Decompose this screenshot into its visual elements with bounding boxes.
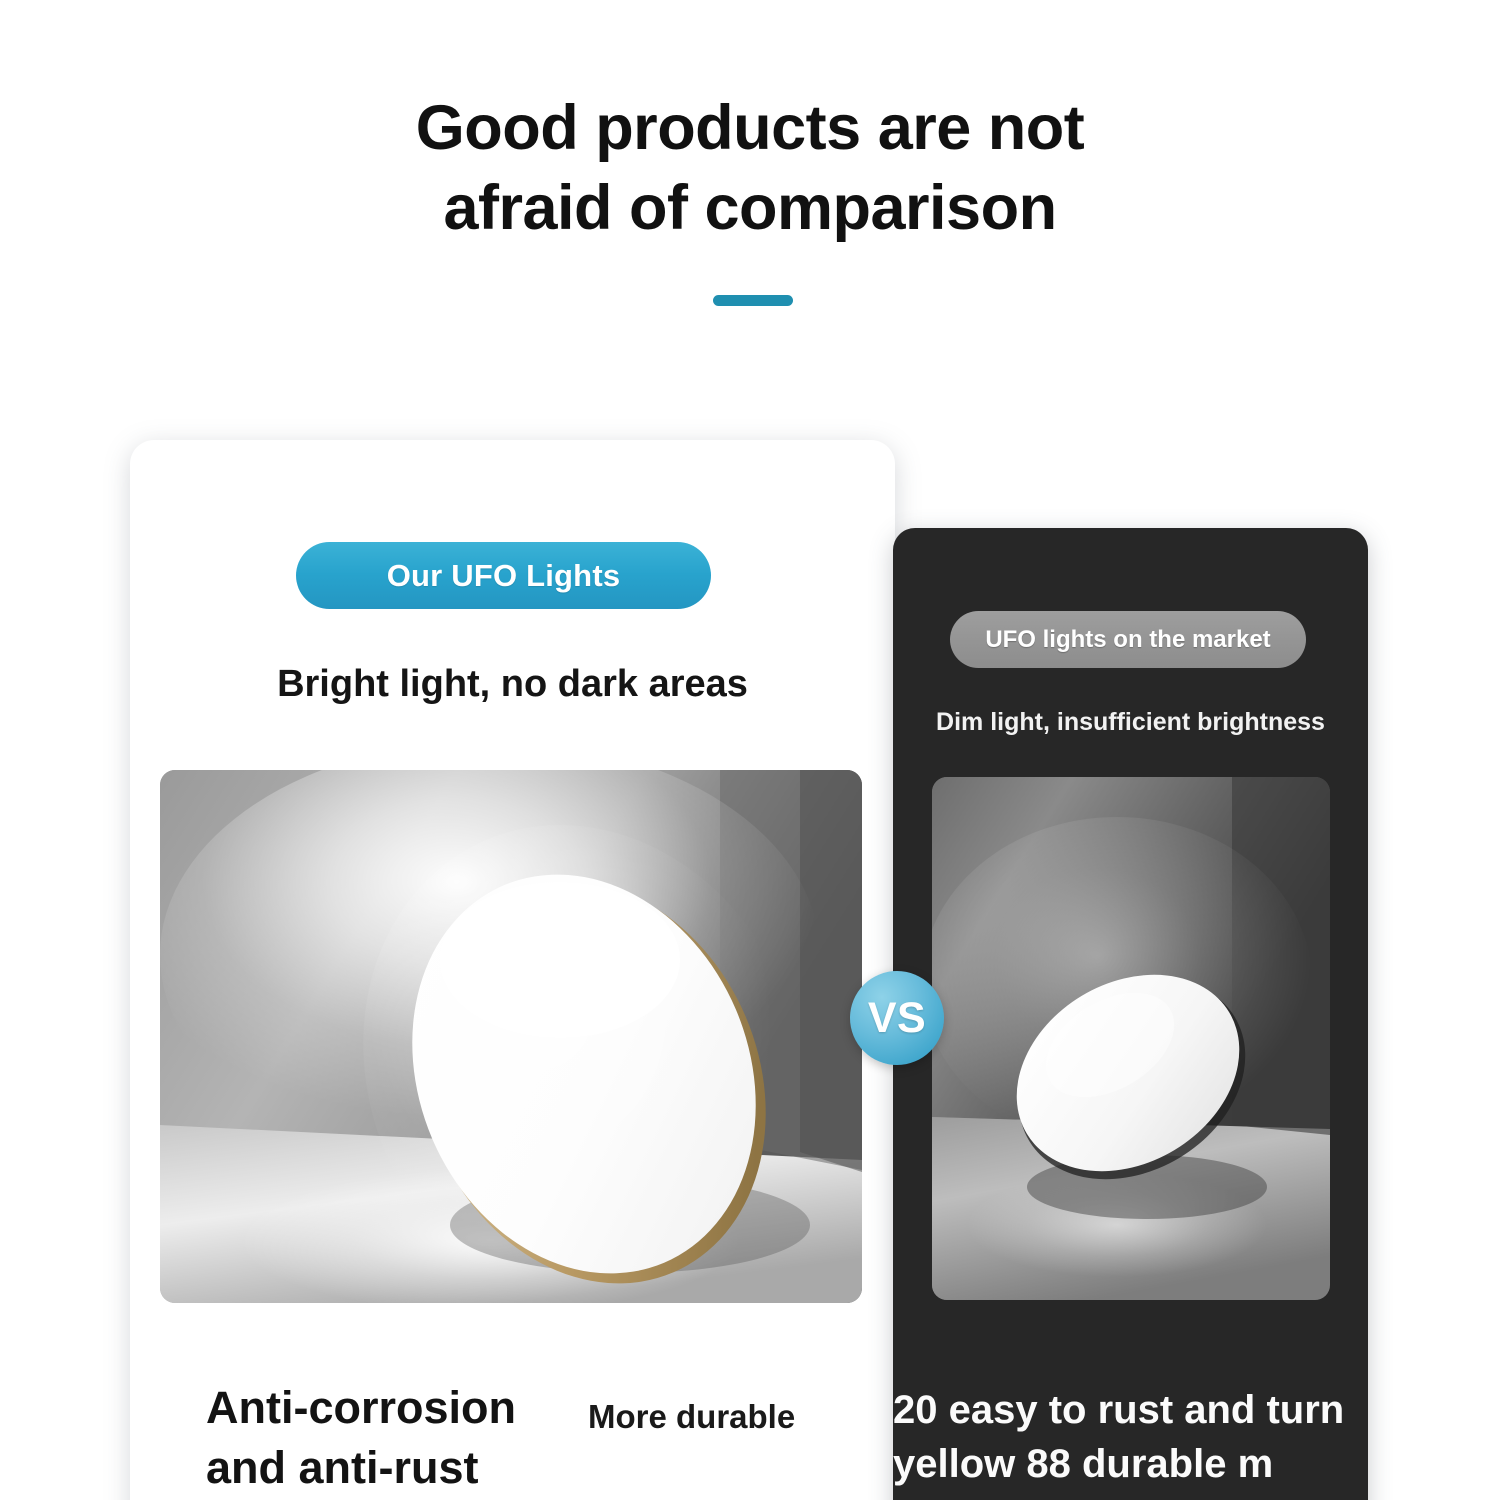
title-divider	[713, 295, 793, 306]
our-product-photo	[160, 770, 862, 1303]
market-product-badge-label: UFO lights on the market	[985, 626, 1270, 654]
our-product-footer-headline: Anti-corrosion and anti-rust	[206, 1378, 516, 1498]
page-title-line-1: Good products are not	[0, 88, 1500, 168]
our-product-footer-headline-line-2: and anti-rust	[206, 1438, 516, 1498]
our-product-badge[interactable]: Our UFO Lights	[296, 542, 711, 609]
market-product-footer-headline-line-2: yellow 88 durable m	[893, 1437, 1383, 1491]
bright-light-illustration	[160, 770, 862, 1303]
our-product-subtitle: Bright light, no dark areas	[130, 663, 895, 706]
versus-badge: VS	[850, 971, 944, 1065]
market-product-footer-headline-line-1: 20 easy to rust and turn	[893, 1383, 1383, 1437]
our-product-footer-note: More durable	[588, 1398, 795, 1436]
our-product-footer-headline-line-1: Anti-corrosion	[206, 1378, 516, 1438]
page-title-line-2: afraid of comparison	[0, 168, 1500, 248]
comparison-infographic: Good products are not afraid of comparis…	[0, 0, 1500, 1500]
market-product-subtitle: Dim light, insufficient brightness	[893, 708, 1368, 737]
market-product-footer-headline: 20 easy to rust and turn yellow 88 durab…	[893, 1383, 1383, 1491]
market-product-photo	[932, 777, 1330, 1300]
versus-label: VS	[868, 994, 926, 1043]
market-product-badge[interactable]: UFO lights on the market	[950, 611, 1306, 668]
our-product-badge-label: Our UFO Lights	[387, 558, 621, 594]
dim-light-illustration	[932, 777, 1330, 1300]
page-title: Good products are not afraid of comparis…	[0, 88, 1500, 248]
